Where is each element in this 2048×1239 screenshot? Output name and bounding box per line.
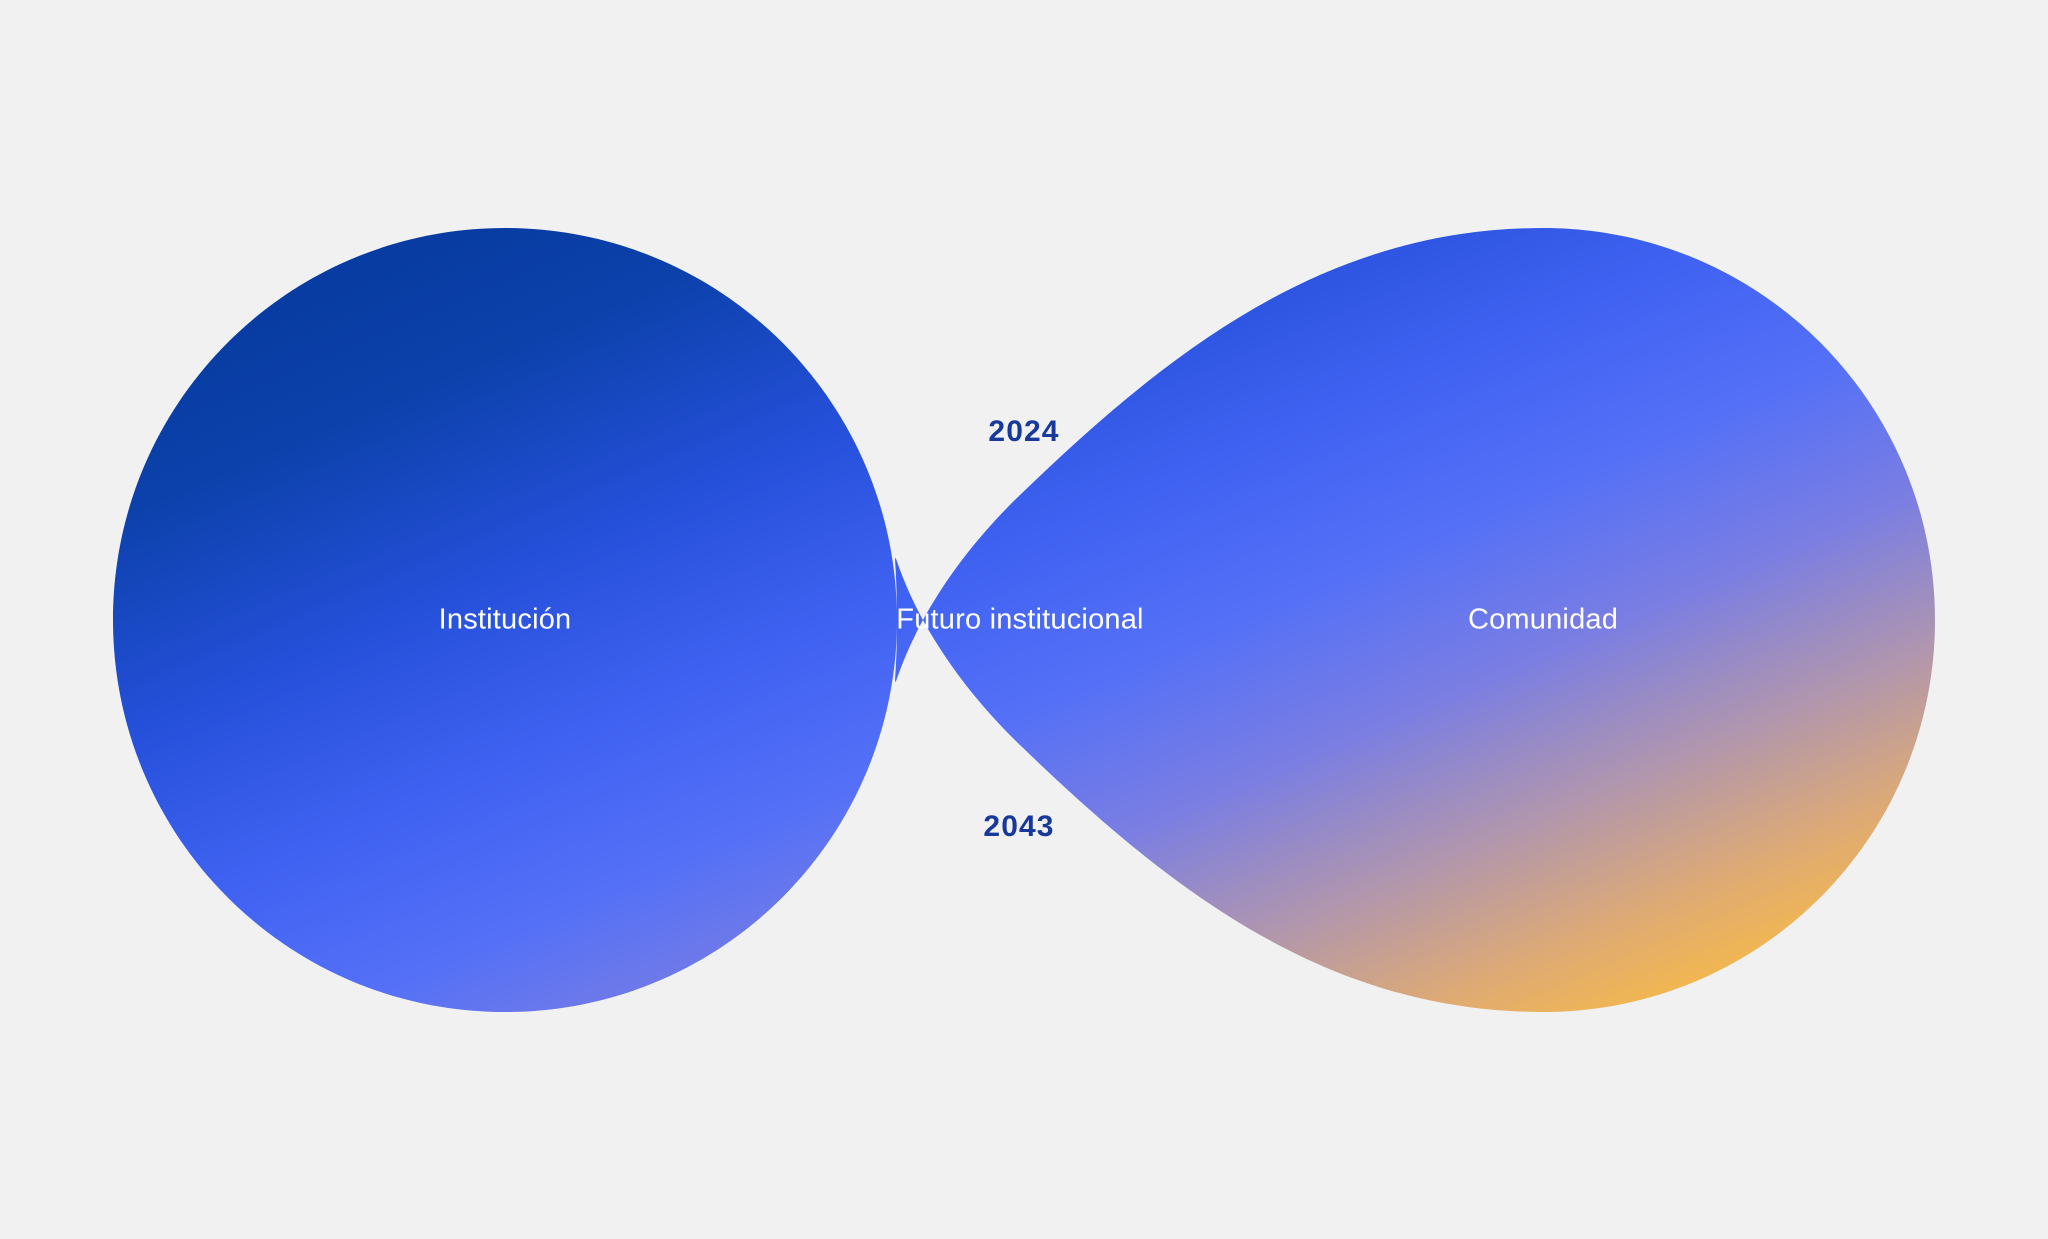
infinity-shape — [0, 0, 2048, 1239]
lemniscate-path — [113, 228, 1935, 1012]
diagram-canvas: Institución Futuro institucional Comunid… — [0, 0, 2048, 1239]
